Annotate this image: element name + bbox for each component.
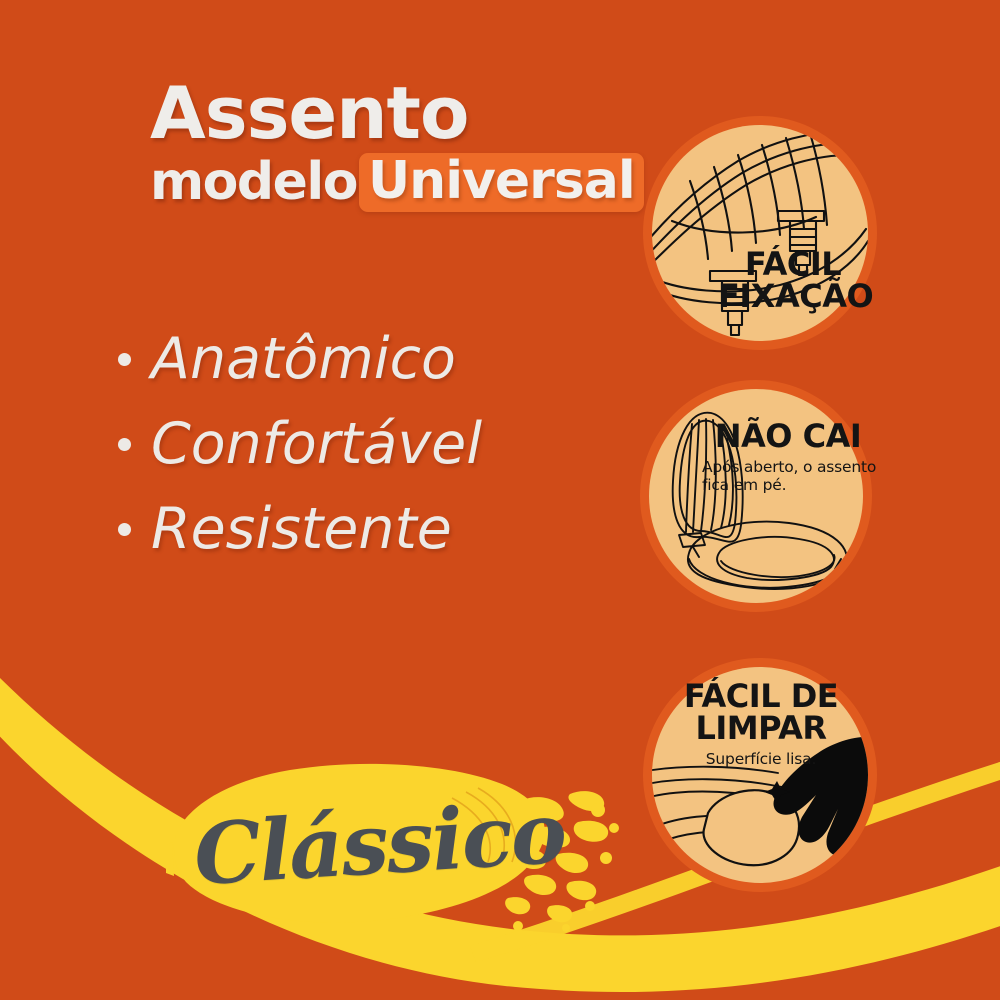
- headline-block: Assento modelo Universal: [150, 78, 630, 212]
- feature-label: Confortável: [151, 415, 482, 473]
- list-item: Resistente: [118, 500, 482, 558]
- subtitle-highlight-badge: Universal: [359, 153, 644, 212]
- hand-wiping-smooth-surface-icon: [652, 667, 868, 883]
- promo-banner: Assento modelo Universal Anatômico Confo…: [0, 0, 1000, 1000]
- list-item: Anatômico: [118, 330, 482, 388]
- subtitle-row: modelo Universal: [150, 153, 630, 212]
- brand-lockup: Clássico: [166, 758, 636, 938]
- page-title: Assento: [150, 78, 630, 149]
- open-toilet-seat-lid-upright-icon: [649, 389, 863, 603]
- list-item: Confortável: [118, 415, 482, 473]
- toilet-seat-underside-with-fixing-bolts-icon: [652, 125, 868, 341]
- bullet-dot-icon: [118, 353, 131, 366]
- subtitle-prefix: modelo: [150, 156, 357, 208]
- feature-list: Anatômico Confortável Resistente: [118, 330, 482, 585]
- badge-facil-de-limpar: FÁCIL DE LIMPAR Superfície lisa.: [643, 658, 877, 892]
- badge-disc: [652, 667, 868, 883]
- badge-disc: [649, 389, 863, 603]
- badge-disc: [652, 125, 868, 341]
- badge-nao-cai: NÃO CAI Após aberto, o assento fica em p…: [640, 380, 872, 612]
- bullet-dot-icon: [118, 438, 131, 451]
- feature-label: Anatômico: [151, 330, 456, 388]
- feature-label: Resistente: [151, 500, 452, 558]
- badge-facil-fixacao: FÁCIL FIXAÇÃO: [643, 116, 877, 350]
- bullet-dot-icon: [118, 523, 131, 536]
